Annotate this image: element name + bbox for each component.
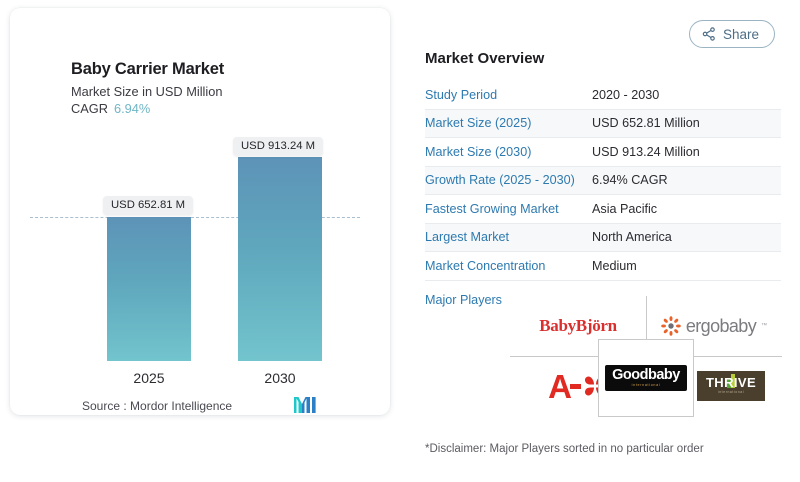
ergobaby-wordmark: ergobaby [686, 316, 756, 337]
thrive-wordmark: THRIVE [706, 376, 756, 389]
row-value: USD 913.24 Million [592, 145, 700, 159]
row-label: Market Concentration [425, 259, 592, 273]
row-value: 2020 - 2030 [592, 88, 659, 102]
artsana-letter: A [548, 370, 572, 403]
player-cell-goodbaby: Goodbaby international [598, 339, 694, 417]
share-network-icon [702, 27, 716, 41]
cagr-row: CAGR 6.94% [71, 101, 150, 116]
goodbaby-logo: Goodbaby international [605, 365, 687, 391]
row-label: Growth Rate (2025 - 2030) [425, 173, 592, 187]
cagr-value: 6.94% [114, 101, 150, 116]
ergobaby-logo: ergobaby ™ [661, 316, 767, 337]
row-label: Fastest Growing Market [425, 202, 592, 216]
ergobaby-sunburst-icon [661, 316, 681, 336]
row-value: North America [592, 230, 672, 244]
table-row: Market Concentration Medium [425, 252, 781, 281]
overview-title: Market Overview [425, 50, 781, 67]
trademark-symbol: ™ [761, 323, 767, 329]
chart-subtitle: Market Size in USD Million [71, 84, 222, 99]
cagr-label: CAGR [71, 101, 108, 116]
share-button[interactable]: Share [689, 20, 775, 48]
table-row: Study Period 2020 - 2030 [425, 81, 781, 110]
thrive-logo: THRIVE international [697, 371, 765, 400]
chart-card: Baby Carrier Market Market Size in USD M… [10, 8, 390, 415]
bar-label-2025: USD 652.81 M [103, 196, 193, 215]
row-value: Medium [592, 259, 637, 273]
market-overview-panel: Market Overview Study Period 2020 - 2030… [425, 50, 781, 281]
x-axis-label-2025: 2025 [107, 370, 191, 386]
row-label: Largest Market [425, 230, 592, 244]
table-row: Largest Market North America [425, 224, 781, 253]
goodbaby-wordmark: Goodbaby [612, 368, 680, 383]
thrive-subtitle: international [706, 391, 756, 394]
bar-chart-plot: USD 652.81 M USD 913.24 M [24, 126, 374, 366]
table-row: Growth Rate (2025 - 2030) 6.94% CAGR [425, 167, 781, 196]
source-text: Source : Mordor Intelligence [82, 399, 232, 413]
row-label: Study Period [425, 88, 592, 102]
row-label: Market Size (2025) [425, 116, 592, 130]
bar-2030[interactable] [238, 157, 322, 361]
mordor-intelligence-logo [293, 396, 319, 414]
table-row: Market Size (2025) USD 652.81 Million [425, 110, 781, 139]
goodbaby-subtitle: international [612, 384, 680, 388]
bar-label-2030: USD 913.24 M [233, 137, 323, 156]
babybjorn-logo: BabyBjörn [539, 316, 617, 336]
row-value: 6.94% CAGR [592, 173, 668, 187]
page-title: Baby Carrier Market [71, 60, 224, 79]
share-button-label: Share [723, 27, 759, 42]
row-value: Asia Pacific [592, 202, 657, 216]
row-value: USD 652.81 Million [592, 116, 700, 130]
row-label: Market Size (2030) [425, 145, 592, 159]
x-axis-label-2030: 2030 [238, 370, 322, 386]
major-players-label: Major Players [425, 293, 502, 307]
artsana-dash [570, 384, 581, 389]
disclaimer-text: *Disclaimer: Major Players sorted in no … [425, 443, 704, 455]
table-row: Market Size (2030) USD 913.24 Million [425, 138, 781, 167]
bar-2025[interactable] [107, 217, 191, 361]
table-row: Fastest Growing Market Asia Pacific [425, 195, 781, 224]
major-players-grid: BabyBjörn ergobaby ™ A [510, 296, 782, 416]
